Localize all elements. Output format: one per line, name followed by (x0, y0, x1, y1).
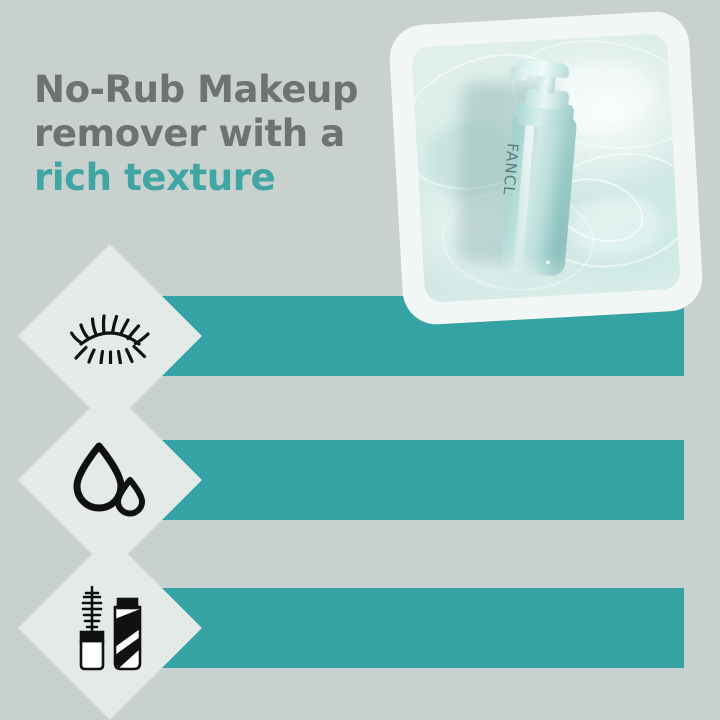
feature-row: Wet Hands - OK (0, 412, 720, 548)
page-title: No-Rub Makeup remover with a rich textur… (34, 68, 404, 200)
infographic-canvas: No-Rub Makeup remover with a rich textur… (0, 0, 720, 720)
product-photo: FANCL (411, 33, 681, 303)
eyelash-icon (45, 271, 175, 401)
product-brand-label: FANCL (499, 143, 521, 197)
mascara-icon (45, 563, 175, 693)
product-photo-card: FANCL (388, 10, 704, 326)
headline-line-3-accent: rich texture (34, 156, 404, 200)
headline-line-1: No-Rub Makeup (34, 68, 404, 112)
headline-line-2: remover with a (34, 112, 404, 156)
water-droplet-icon (45, 415, 175, 545)
feature-row: Waterproof Mascara - OK (0, 560, 720, 696)
product-bottle: FANCL (486, 57, 606, 280)
